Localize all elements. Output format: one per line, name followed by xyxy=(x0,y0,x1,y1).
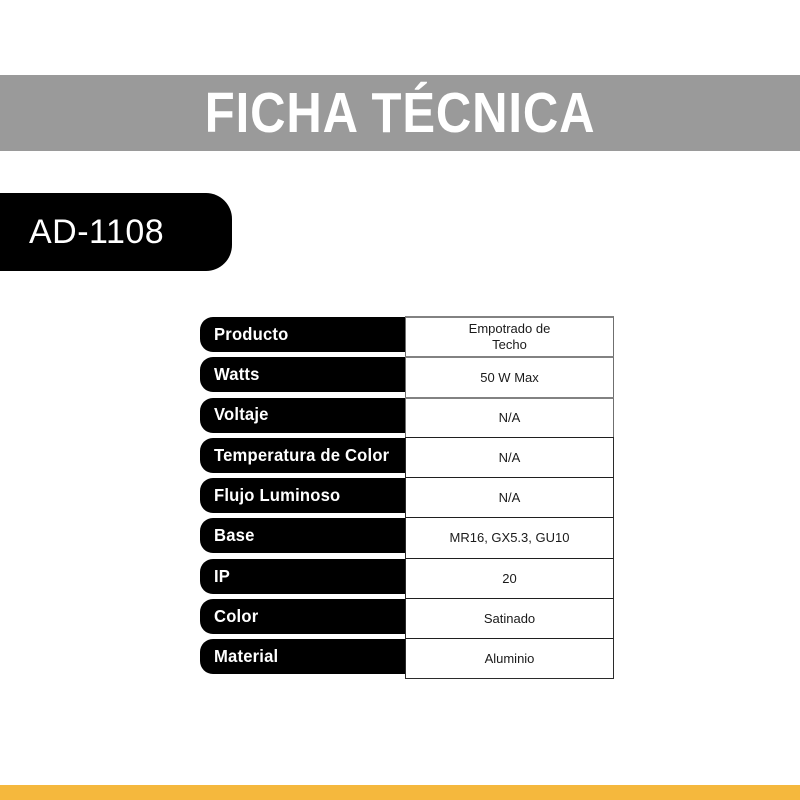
spec-label-pill: Color xyxy=(200,599,405,634)
header-band: FICHA TÉCNICA xyxy=(0,75,800,151)
table-row: Temperatura de ColorN/A xyxy=(200,437,614,477)
page-title: FICHA TÉCNICA xyxy=(205,85,596,142)
spec-label-text: Watts xyxy=(214,366,260,384)
spec-label-cell: Producto xyxy=(200,316,405,356)
spec-table: ProductoEmpotrado de TechoWatts50 W MaxV… xyxy=(200,316,614,679)
spec-label-text: Temperatura de Color xyxy=(214,447,389,465)
spec-label-pill: Material xyxy=(200,639,405,674)
spec-value-text: MR16, GX5.3, GU10 xyxy=(450,530,570,546)
table-row: ColorSatinado xyxy=(200,598,614,638)
spec-value-cell: Satinado xyxy=(405,598,614,638)
model-badge: AD-1108 xyxy=(0,193,232,271)
spec-value-cell: 50 W Max xyxy=(405,356,614,396)
spec-label-cell: Color xyxy=(200,598,405,638)
table-row: MaterialAluminio xyxy=(200,638,614,678)
spec-label-pill: Producto xyxy=(200,317,405,352)
spec-value-text: 50 W Max xyxy=(480,370,539,386)
spec-value-text: Satinado xyxy=(484,611,535,627)
table-row: VoltajeN/A xyxy=(200,397,614,437)
spec-label-text: Material xyxy=(214,648,278,666)
spec-value-cell: 20 xyxy=(405,558,614,598)
spec-value-cell: MR16, GX5.3, GU10 xyxy=(405,517,614,557)
spec-value-text: N/A xyxy=(499,410,521,426)
spec-label-text: Producto xyxy=(214,326,288,344)
spec-label-text: Flujo Luminoso xyxy=(214,487,340,505)
spec-value-text: N/A xyxy=(499,450,521,466)
spec-label-text: Base xyxy=(214,527,255,545)
spec-label-pill: Voltaje xyxy=(200,398,405,433)
spec-value-cell: Empotrado de Techo xyxy=(405,316,614,356)
spec-label-pill: IP xyxy=(200,559,405,594)
spec-label-cell: IP xyxy=(200,558,405,598)
spec-label-text: Color xyxy=(214,608,258,626)
spec-label-pill: Base xyxy=(200,518,405,553)
spec-label-cell: Flujo Luminoso xyxy=(200,477,405,517)
spec-value-cell: N/A xyxy=(405,437,614,477)
spec-label-cell: Voltaje xyxy=(200,397,405,437)
spec-label-pill: Temperatura de Color xyxy=(200,438,405,473)
spec-value-text: Empotrado de Techo xyxy=(469,321,551,353)
table-row: BaseMR16, GX5.3, GU10 xyxy=(200,517,614,557)
spec-label-cell: Base xyxy=(200,517,405,557)
spec-label-cell: Temperatura de Color xyxy=(200,437,405,477)
spec-label-text: Voltaje xyxy=(214,406,269,424)
spec-label-cell: Material xyxy=(200,638,405,678)
model-number: AD-1108 xyxy=(29,215,164,249)
spec-value-text: Aluminio xyxy=(485,651,535,667)
spec-label-cell: Watts xyxy=(200,356,405,396)
table-row: Flujo LuminosoN/A xyxy=(200,477,614,517)
table-row: ProductoEmpotrado de Techo xyxy=(200,316,614,356)
spec-value-cell: N/A xyxy=(405,397,614,437)
spec-label-text: IP xyxy=(214,568,230,586)
spec-label-pill: Watts xyxy=(200,357,405,392)
table-row: Watts50 W Max xyxy=(200,356,614,396)
spec-label-pill: Flujo Luminoso xyxy=(200,478,405,513)
spec-value-cell: N/A xyxy=(405,477,614,517)
spec-value-text: 20 xyxy=(502,571,516,587)
spec-value-cell: Aluminio xyxy=(405,638,614,678)
table-row: IP20 xyxy=(200,558,614,598)
footer-accent-strip xyxy=(0,785,800,800)
spec-value-text: N/A xyxy=(499,490,521,506)
